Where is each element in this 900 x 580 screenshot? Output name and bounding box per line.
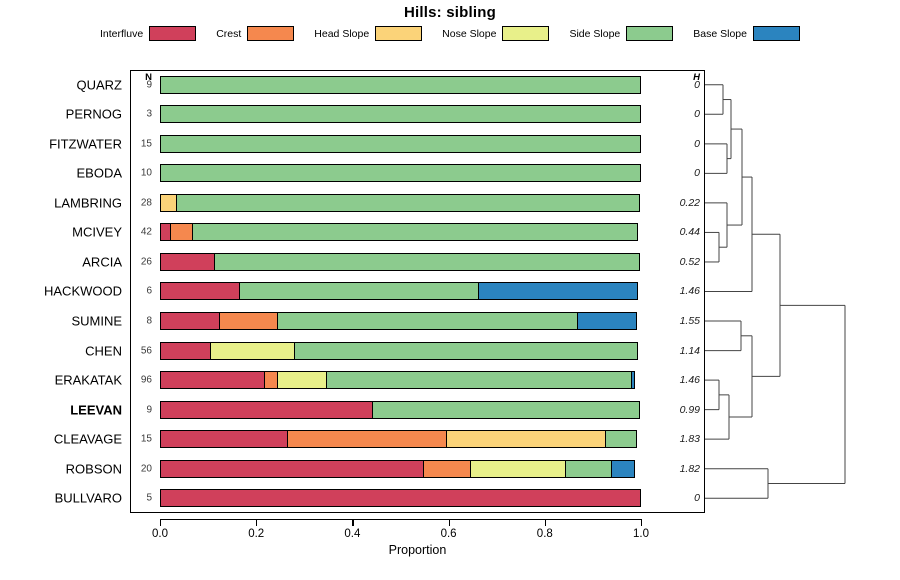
x-axis-tick	[545, 519, 546, 526]
legend-item-label: Head Slope	[314, 28, 369, 40]
row-h-value: 0.52	[662, 256, 700, 268]
bar-segment-side-slope[interactable]	[372, 401, 639, 419]
x-axis-title: Proportion	[130, 543, 705, 557]
row-label-quarz: QUARZ	[0, 77, 122, 92]
row-label-cleavage: CLEAVAGE	[0, 432, 122, 447]
row-n-value: 56	[126, 345, 152, 356]
row-h-value: 1.14	[662, 345, 700, 357]
bar-segment-nose-slope[interactable]	[470, 460, 566, 478]
bar-segment-interfluve[interactable]	[160, 312, 220, 330]
row-label-arcia: ARCIA	[0, 254, 122, 269]
row-n-value: 28	[126, 197, 152, 208]
row-n-value: 3	[126, 109, 152, 120]
row-label-pernog: PERNOG	[0, 107, 122, 122]
x-axis-tick	[641, 519, 642, 526]
stacked-bar[interactable]	[160, 164, 641, 182]
row-n-value: 26	[126, 256, 152, 267]
x-axis-tick	[449, 519, 450, 526]
bar-segment-crest[interactable]	[219, 312, 279, 330]
legend-item-nose-slope: Nose Slope	[442, 26, 549, 41]
row-h-value: 0	[662, 79, 700, 91]
row-n-value: 5	[126, 493, 152, 504]
stacked-bar[interactable]	[160, 312, 641, 330]
stacked-bar[interactable]	[160, 282, 641, 300]
row-h-value: 1.46	[662, 374, 700, 386]
bar-segment-base-slope[interactable]	[577, 312, 637, 330]
legend-color-swatch	[626, 26, 673, 41]
row-h-value: 0	[662, 108, 700, 120]
bar-segment-interfluve[interactable]	[160, 282, 240, 300]
legend-item-crest: Crest	[216, 26, 294, 41]
bar-segment-side-slope[interactable]	[565, 460, 613, 478]
row-n-value: 9	[126, 404, 152, 415]
x-axis: 0.00.20.40.60.81.0	[130, 519, 705, 521]
bar-segment-base-slope[interactable]	[631, 371, 636, 389]
row-n-value: 9	[126, 79, 152, 90]
bar-segment-crest[interactable]	[423, 460, 471, 478]
legend-color-swatch	[375, 26, 422, 41]
legend-item-label: Side Slope	[569, 28, 620, 40]
legend-item-base-slope: Base Slope	[693, 26, 800, 41]
row-label-chen: CHEN	[0, 343, 122, 358]
row-label-fitzwater: FITZWATER	[0, 136, 122, 151]
bar-segment-head-slope[interactable]	[446, 430, 606, 448]
row-h-value: 1.83	[662, 433, 700, 445]
row-label-erakatak: ERAKATAK	[0, 373, 122, 388]
stacked-bar[interactable]	[160, 371, 641, 389]
row-label-bullvaro: BULLVARO	[0, 491, 122, 506]
stacked-bar[interactable]	[160, 105, 641, 123]
legend-item-head-slope: Head Slope	[314, 26, 422, 41]
row-label-eboda: EBODA	[0, 166, 122, 181]
legend-item-interfluve: Interfluve	[100, 26, 196, 41]
bar-segment-side-slope[interactable]	[277, 312, 578, 330]
bar-segment-side-slope[interactable]	[160, 164, 641, 182]
x-axis-tick	[256, 519, 257, 526]
bar-segment-side-slope[interactable]	[176, 194, 640, 212]
bar-segment-interfluve[interactable]	[160, 371, 265, 389]
row-h-value: 0	[662, 138, 700, 150]
row-label-leevan: LEEVAN	[0, 402, 122, 417]
row-h-value: 0.44	[662, 226, 700, 238]
legend-item-side-slope: Side Slope	[569, 26, 673, 41]
stacked-bar[interactable]	[160, 489, 641, 507]
row-n-value: 15	[126, 434, 152, 445]
row-label-robson: ROBSON	[0, 461, 122, 476]
bar-segment-side-slope[interactable]	[160, 135, 641, 153]
bar-segment-side-slope[interactable]	[326, 371, 632, 389]
legend-color-swatch	[247, 26, 294, 41]
stacked-bar[interactable]	[160, 460, 641, 478]
x-axis-tick-label: 1.0	[621, 528, 661, 540]
x-axis-tick-label: 0.2	[236, 528, 276, 540]
row-label-sumine: SUMINE	[0, 314, 122, 329]
row-h-value: 0	[662, 492, 700, 504]
stacked-bar[interactable]	[160, 342, 641, 360]
stacked-bar[interactable]	[160, 253, 641, 271]
row-label-lambring: LAMBRING	[0, 195, 122, 210]
legend-item-label: Crest	[216, 28, 241, 40]
row-h-value: 0.99	[662, 404, 700, 416]
row-label-hackwood: HACKWOOD	[0, 284, 122, 299]
legend-color-swatch	[753, 26, 800, 41]
row-h-value: 0	[662, 167, 700, 179]
row-n-value: 10	[126, 168, 152, 179]
bar-segment-side-slope[interactable]	[160, 105, 641, 123]
bar-segment-interfluve[interactable]	[160, 342, 211, 360]
legend-item-label: Base Slope	[693, 28, 747, 40]
bar-segment-side-slope[interactable]	[294, 342, 638, 360]
row-n-value: 96	[126, 375, 152, 386]
x-axis-tick	[352, 519, 353, 526]
bar-segment-side-slope[interactable]	[192, 223, 638, 241]
bar-segment-side-slope[interactable]	[214, 253, 640, 271]
row-label-mcivey: MCIVEY	[0, 225, 122, 240]
bar-segment-nose-slope[interactable]	[277, 371, 327, 389]
stacked-bar[interactable]	[160, 76, 641, 94]
legend-color-swatch	[502, 26, 549, 41]
stacked-bar[interactable]	[160, 135, 641, 153]
bar-segment-side-slope[interactable]	[160, 76, 641, 94]
row-n-value: 20	[126, 463, 152, 474]
x-axis-tick-label: 0.8	[525, 528, 565, 540]
bar-segment-interfluve[interactable]	[160, 460, 425, 478]
bar-segment-crest[interactable]	[287, 430, 447, 448]
stacked-bar[interactable]	[160, 223, 641, 241]
legend-color-swatch	[149, 26, 196, 41]
bar-segment-base-slope[interactable]	[478, 282, 638, 300]
x-axis-tick-label: 0.6	[429, 528, 469, 540]
legend-item-label: Nose Slope	[442, 28, 496, 40]
bar-segment-nose-slope[interactable]	[210, 342, 296, 360]
row-n-value: 8	[126, 316, 152, 327]
x-axis-tick-label: 0.4	[332, 528, 372, 540]
legend-item-label: Interfluve	[100, 28, 143, 40]
stacked-bar[interactable]	[160, 194, 641, 212]
stacked-bar[interactable]	[160, 401, 641, 419]
bar-segment-side-slope[interactable]	[239, 282, 480, 300]
row-h-value: 1.82	[662, 463, 700, 475]
row-n-value: 6	[126, 286, 152, 297]
bar-segment-interfluve[interactable]	[160, 489, 641, 507]
bar-segment-base-slope[interactable]	[611, 460, 635, 478]
bar-segment-interfluve[interactable]	[160, 253, 215, 271]
bar-segment-interfluve[interactable]	[160, 401, 374, 419]
row-h-value: 1.46	[662, 285, 700, 297]
bar-segment-interfluve[interactable]	[160, 430, 288, 448]
bar-segment-side-slope[interactable]	[605, 430, 637, 448]
legend: InterfluveCrestHead SlopeNose SlopeSide …	[0, 26, 900, 41]
x-axis-tick	[160, 519, 161, 526]
dendrogram-svg	[705, 70, 900, 513]
row-n-value: 42	[126, 227, 152, 238]
bar-segment-head-slope[interactable]	[160, 194, 177, 212]
x-axis-line	[160, 519, 641, 520]
row-h-value: 0.22	[662, 197, 700, 209]
dendrogram	[705, 70, 900, 513]
page-title: Hills: sibling	[0, 4, 900, 21]
row-h-value: 1.55	[662, 315, 700, 327]
row-n-value: 15	[126, 138, 152, 149]
x-axis-tick-label: 0.0	[140, 528, 180, 540]
stacked-bar[interactable]	[160, 430, 641, 448]
bar-segment-crest[interactable]	[170, 223, 193, 241]
